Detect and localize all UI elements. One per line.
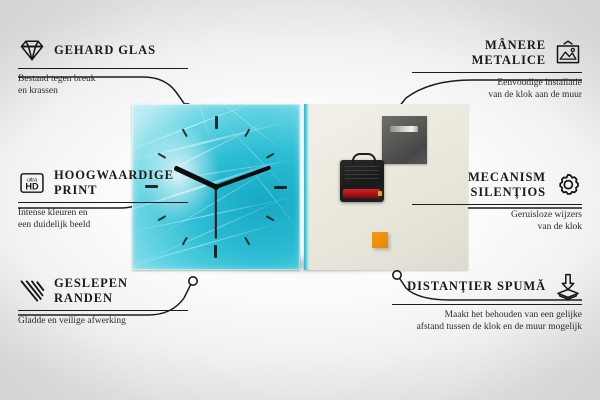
aa-battery (343, 189, 380, 198)
gear-icon (554, 171, 582, 199)
feature-divider (18, 310, 188, 311)
feature-header: MECANISM SILENŢIOS (412, 170, 582, 200)
feature-divider (18, 202, 188, 203)
picture-hanger-icon (554, 39, 582, 67)
feature-header: ultra HD HOOGWAARDIGE PRINT (18, 168, 188, 198)
feature-description: Geruisloze wijzers van de klok (412, 209, 582, 233)
bevelled-edge-icon (18, 277, 46, 305)
quartz-clock-mechanism (340, 160, 384, 202)
svg-text:HD: HD (25, 182, 39, 192)
feature-title: MÂNERE METALICE (420, 38, 546, 68)
feature-header: MÂNERE METALICE (412, 38, 582, 68)
clock-center-pin (213, 184, 219, 190)
feature-divider (18, 68, 188, 69)
diamond-icon (18, 36, 46, 64)
feature-description: Intense kleuren en een duidelijk beeld (18, 207, 188, 231)
feature-divider (412, 204, 582, 205)
ultra-hd-icon: ultra HD (18, 169, 46, 197)
feature-title: GESLEPEN RANDEN (54, 276, 182, 306)
infographic-canvas: GEHARD GLAS Bestand tegen breuk en krass… (0, 0, 600, 400)
feature-title: DISTANŢIER SPUMĂ (407, 279, 546, 294)
foam-spacer (372, 232, 388, 248)
mechanism-hanging-loop (352, 153, 376, 165)
feature-description: Bestand tegen breuk en krassen (18, 73, 188, 97)
feature-geslepen-randen[interactable]: GESLEPEN RANDEN Gladde en veilige afwerk… (18, 276, 188, 327)
feature-description: Gladde en veilige afwerking (18, 315, 188, 327)
metal-hanger (382, 116, 427, 164)
glass-edge-strip (304, 104, 309, 270)
feature-header: DISTANŢIER SPUMĂ (392, 272, 582, 300)
feature-gehard-glas[interactable]: GEHARD GLAS Bestand tegen breuk en krass… (18, 36, 188, 97)
mechanism-detail (345, 166, 379, 186)
hanger-slot (390, 126, 418, 132)
feature-title: MECANISM SILENŢIOS (420, 170, 546, 200)
clock-second-hand (215, 187, 217, 239)
feature-manere-metalice[interactable]: MÂNERE METALICE Eenvoudige installatie v… (412, 38, 582, 101)
feature-hoogwaardige-print[interactable]: ultra HD HOOGWAARDIGE PRINT Intense kleu… (18, 168, 188, 231)
feature-distantier-spuma[interactable]: DISTANŢIER SPUMĂ Maakt het behouden van … (392, 272, 582, 333)
feature-description: Eenvoudige installatie van de klok aan d… (412, 77, 582, 101)
feature-description: Maakt het behouden van een gelijke afsta… (392, 309, 582, 333)
feature-divider (412, 72, 582, 73)
feature-title: HOOGWAARDIGE PRINT (54, 168, 182, 198)
foam-spacer-icon (554, 272, 582, 300)
feature-mecanism-silentios[interactable]: MECANISM SILENŢIOS Geruisloze wijzers va… (412, 170, 582, 233)
feature-header: GEHARD GLAS (18, 36, 188, 64)
feature-title: GEHARD GLAS (54, 43, 156, 58)
feature-divider (392, 304, 582, 305)
feature-header: GESLEPEN RANDEN (18, 276, 188, 306)
